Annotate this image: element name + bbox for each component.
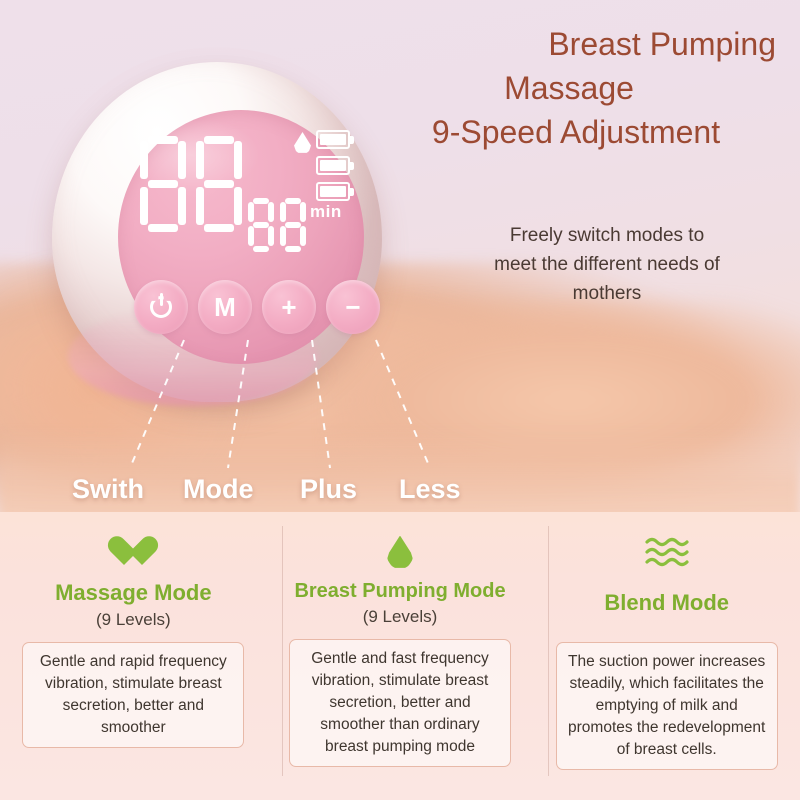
modes-panel: Massage Mode (9 Levels) Gentle and rapid…	[0, 512, 800, 800]
mode-description-pumping: Gentle and fast frequency vibration, sti…	[300, 648, 500, 758]
minus-button[interactable]: −	[326, 280, 380, 334]
mode-levels-massage: (9 Levels)	[96, 610, 171, 630]
mode-title-massage: Massage Mode	[55, 580, 212, 606]
heading-line-1: Breast Pumping	[376, 22, 776, 66]
digit-small-2	[280, 198, 306, 252]
plus-button[interactable]: +	[262, 280, 316, 334]
heading-line-3: 9-Speed Adjustment	[376, 110, 776, 154]
heading-line-2: Massage	[376, 66, 776, 110]
mode-description-card-massage: Gentle and rapid frequency vibration, st…	[22, 642, 244, 748]
mode-column-blend: Blend Mode The suction power increases s…	[533, 522, 800, 800]
callout-label-less: Less	[399, 474, 461, 505]
mode-button[interactable]: M	[198, 280, 252, 334]
mode-description-card-pumping: Gentle and fast frequency vibration, sti…	[289, 639, 511, 767]
digit-small-1	[248, 198, 274, 252]
subheading-line-1: Freely switch modes to	[442, 222, 772, 251]
power-icon	[150, 296, 172, 318]
device-display-screen: min M + −	[118, 110, 364, 364]
callout-label-mode: Mode	[183, 474, 254, 505]
digit-main-1	[140, 136, 186, 232]
waves-icon	[644, 535, 690, 569]
mode-title-blend: Blend Mode	[604, 590, 729, 616]
mode-description-massage: Gentle and rapid frequency vibration, st…	[33, 651, 233, 739]
callout-label-plus: Plus	[300, 474, 357, 505]
device-body: min M + −	[52, 62, 382, 402]
display-digits	[140, 136, 300, 246]
product-photo-area: min M + − Swith Mode	[0, 0, 800, 512]
battery-icon	[316, 130, 350, 149]
callout-label-switch: Swith	[72, 474, 144, 505]
mode-column-massage: Massage Mode (9 Levels) Gentle and rapid…	[0, 522, 267, 800]
power-button[interactable]	[134, 280, 188, 334]
display-unit-label: min	[310, 202, 342, 222]
main-heading: Breast Pumping Massage 9-Speed Adjustmen…	[376, 22, 776, 154]
mode-description-card-blend: The suction power increases steadily, wh…	[556, 642, 778, 770]
mode-description-blend: The suction power increases steadily, wh…	[567, 651, 767, 761]
battery-icon	[316, 156, 350, 175]
subheading-line-2: meet the different needs of	[442, 251, 772, 280]
digit-main-2	[196, 136, 242, 232]
droplet-icon	[387, 536, 413, 569]
device-button-row: M + −	[134, 280, 348, 340]
battery-icon	[316, 182, 350, 201]
mode-title-pumping: Breast Pumping Mode	[294, 580, 505, 603]
subheading-line-3: mothers	[442, 280, 772, 309]
mode-column-pumping: Breast Pumping Mode (9 Levels) Gentle an…	[267, 522, 534, 800]
sub-heading: Freely switch modes to meet the differen…	[442, 222, 772, 309]
heart-icon	[116, 537, 150, 568]
breast-pump-device: min M + −	[44, 54, 404, 434]
drop-icon	[294, 132, 314, 158]
mode-levels-pumping: (9 Levels)	[363, 607, 438, 627]
